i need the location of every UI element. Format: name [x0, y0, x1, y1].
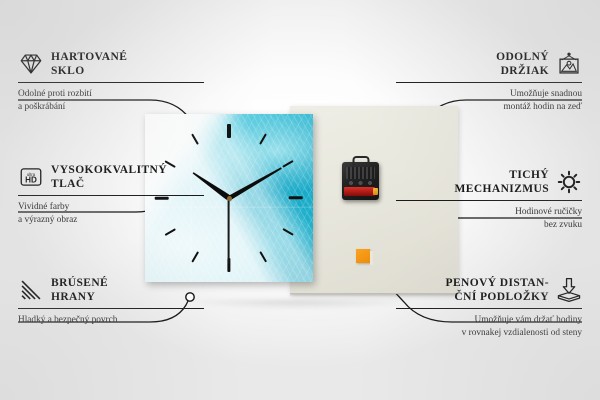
feature-title: BRÚSENÉ HRANY [51, 276, 108, 304]
gear-icon [556, 169, 582, 195]
feature-title-line1: BRÚSENÉ [51, 276, 108, 290]
movement-hanger [352, 156, 369, 167]
feature-title-line2: DRŽIAK [496, 64, 549, 78]
feature-foam-spacers: PENOVÝ DISTAN- ČNÍ PODLOŽKY Umožňuje vám… [396, 276, 582, 339]
foam-pad-arrow-icon [556, 277, 582, 303]
movement-knobs [347, 180, 374, 186]
feature-desc-line2: bez zvuku [396, 219, 582, 232]
feature-description: Hladký a bezpečný povrch [18, 314, 204, 327]
feature-title-line2: MECHANIZMUS [455, 182, 550, 196]
feature-hd-print: ultra HD VYSOKOKVALITNÝ TLAČ Vividné far… [18, 163, 204, 226]
feature-title: TICHÝ MECHANIZMUS [455, 168, 550, 196]
feature-description: Umožňuje snadnou montáž hodin na zeď [396, 88, 582, 113]
foam-distance-pad [356, 249, 370, 263]
feature-description: Hodinové ručičky bez zvuku [396, 206, 582, 231]
feature-title-line1: HARTOVANÉ [51, 50, 127, 64]
feature-title: VYSOKOKVALITNÝ TLAČ [51, 163, 167, 191]
feature-title-line2: HRANY [51, 290, 108, 304]
feature-description: Umožňuje vám držať hodiny v rovnakej vzd… [396, 314, 582, 339]
feature-title: HARTOVANÉ SKLO [51, 50, 127, 78]
feature-ground-edges: BRÚSENÉ HRANY Hladký a bezpečný povrch [18, 276, 204, 327]
clock-tick [289, 196, 303, 199]
feature-description: Vividné farby a výrazný obraz [18, 201, 204, 226]
feature-desc-line2: a výrazný obraz [18, 214, 204, 227]
feature-divider [18, 82, 204, 83]
feature-title: ODOLNÝ DRŽIAK [496, 50, 549, 78]
clock-tick [259, 251, 267, 262]
clock-tick [282, 160, 293, 168]
battery [344, 187, 375, 196]
feature-title-line1: ODOLNÝ [496, 50, 549, 64]
clock-tick [191, 251, 199, 262]
feature-desc-line1: Odolné proti rozbití [18, 88, 204, 101]
feature-desc-line1: Hladký a bezpečný povrch [18, 314, 204, 327]
product-feature-infographic: HARTOVANÉ SKLO Odolné proti rozbití a po… [0, 0, 600, 400]
feature-title-line2: ČNÍ PODLOŽKY [446, 290, 549, 304]
ultra-hd-icon: ultra HD [18, 164, 44, 190]
feature-durable-holder: ODOLNÝ DRŽIAK Umožňuje snadnou montáž ho… [396, 50, 582, 113]
feature-desc-line2: montáž hodin na zeď [396, 101, 582, 114]
feature-tempered-glass: HARTOVANÉ SKLO Odolné proti rozbití a po… [18, 50, 204, 113]
feature-description: Odolné proti rozbití a poškrábání [18, 88, 204, 113]
ground-edges-icon [18, 277, 44, 303]
ultra-hd-icon-label: HD [25, 176, 37, 185]
feature-desc-line1: Umožňuje snadnou [396, 88, 582, 101]
feature-divider [396, 82, 582, 83]
feature-divider [18, 195, 204, 196]
feature-title-line1: VYSOKOKVALITNÝ [51, 163, 167, 177]
feature-divider [396, 308, 582, 309]
clock-tick [227, 124, 230, 138]
battery-tip [373, 188, 378, 195]
feature-desc-line2: v rovnakej vzdialenosti od steny [396, 327, 582, 340]
clock-movement [342, 162, 379, 200]
picture-frame-hanger-icon [556, 51, 582, 77]
clock-hand-hub [227, 196, 232, 201]
feature-desc-line2: a poškrábání [18, 101, 204, 114]
feature-title-line2: SKLO [51, 64, 127, 78]
clock-tick [191, 133, 199, 144]
clock-tick [164, 228, 175, 236]
feature-silent-mechanism: TICHÝ MECHANIZMUS Hodinové ručičky bez z… [396, 168, 582, 231]
feature-desc-line1: Vividné farby [18, 201, 204, 214]
feature-title-line1: PENOVÝ DISTAN- [446, 276, 549, 290]
clock-tick [282, 228, 293, 236]
feature-title-line1: TICHÝ [455, 168, 550, 182]
feature-divider [396, 200, 582, 201]
feature-divider [18, 308, 204, 309]
clock-tick [259, 133, 267, 144]
feature-title-line2: TLAČ [51, 177, 167, 191]
feature-desc-line1: Umožňuje vám držať hodiny [396, 314, 582, 327]
diamond-icon [18, 51, 44, 77]
clock-second-hand [228, 198, 230, 264]
feature-title: PENOVÝ DISTAN- ČNÍ PODLOŽKY [446, 276, 549, 304]
feature-desc-line1: Hodinové ručičky [396, 206, 582, 219]
movement-vents [346, 167, 375, 179]
